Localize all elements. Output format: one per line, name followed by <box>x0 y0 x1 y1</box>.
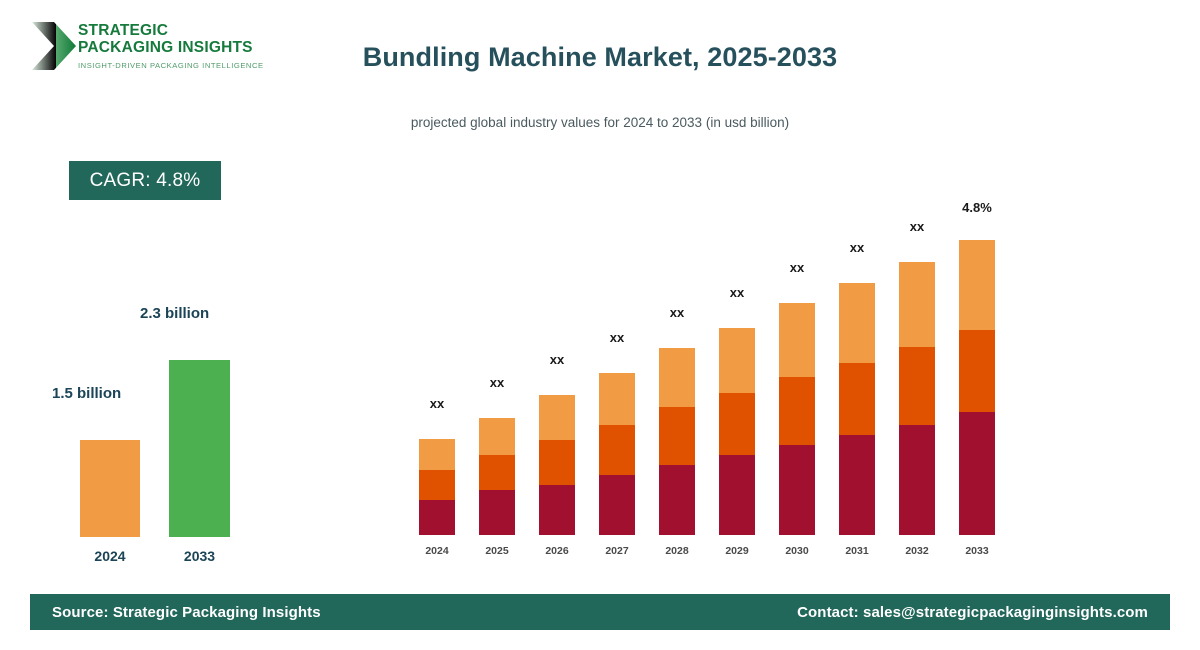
segment-bottom-band <box>539 485 575 535</box>
segment-top-band <box>779 303 815 377</box>
comparison-bar-value: 1.5 billion <box>52 385 121 402</box>
segment-bottom-band <box>719 455 755 535</box>
segment-bottom-band <box>959 412 995 535</box>
stacked-bar-group: xx2028 <box>659 200 695 560</box>
segment-top-band <box>719 328 755 393</box>
stacked-bar-value-label: xx <box>467 375 527 390</box>
stacked-bar-value-label: xx <box>887 219 947 234</box>
stacked-bar-year-label: 2031 <box>827 545 887 557</box>
segment-mid-band <box>959 330 995 412</box>
footer-bar: Source: Strategic Packaging Insights Con… <box>30 594 1170 630</box>
segment-mid-band <box>779 377 815 445</box>
stacked-bar-group: xx2031 <box>839 200 875 560</box>
comparison-bar-year: 2033 <box>155 548 245 564</box>
stacked-bar-year-label: 2027 <box>587 545 647 557</box>
segment-mid-band <box>599 425 635 475</box>
comparison-chart: 1.5 billion20242.3 billion2033 <box>40 300 290 570</box>
stacked-bar-value-label: xx <box>407 396 467 411</box>
stacked-bar <box>899 262 935 535</box>
page-title: Bundling Machine Market, 2025-2033 <box>300 42 900 73</box>
stacked-bar-year-label: 2030 <box>767 545 827 557</box>
comparison-bar-year: 2024 <box>65 548 155 564</box>
brand-tagline: INSIGHT-DRIVEN PACKAGING INTELLIGENCE <box>78 60 268 72</box>
brand-name-line1: STRATEGIC <box>78 22 268 39</box>
footer-source: Source: Strategic Packaging Insights <box>52 604 321 621</box>
footer-contact[interactable]: Contact: sales@strategicpackaginginsight… <box>797 604 1148 621</box>
chevron-arrow-icon <box>30 20 78 72</box>
stacked-bar <box>839 283 875 535</box>
stacked-bar-group: xx2032 <box>899 200 935 560</box>
stacked-bar-group: xx2024 <box>419 200 455 560</box>
stacked-bar-group: xx2026 <box>539 200 575 560</box>
stacked-bar-value-label: xx <box>767 260 827 275</box>
stacked-bar-value-label: xx <box>587 330 647 345</box>
projection-stacked-bar-chart: xx2024xx2025xx2026xx2027xx2028xx2029xx20… <box>400 200 1020 560</box>
segment-bottom-band <box>779 445 815 535</box>
stacked-bar <box>719 328 755 535</box>
segment-mid-band <box>899 347 935 425</box>
segment-top-band <box>599 373 635 425</box>
segment-top-band <box>959 240 995 330</box>
stacked-bar-year-label: 2029 <box>707 545 767 557</box>
stacked-bar-group: xx2030 <box>779 200 815 560</box>
stacked-bar-year-label: 2024 <box>407 545 467 557</box>
comparison-bar <box>169 360 230 537</box>
segment-bottom-band <box>419 500 455 535</box>
cagr-badge: CAGR: 4.8% <box>69 161 221 200</box>
brand-name: STRATEGIC PACKAGING INSIGHTS INSIGHT-DRI… <box>78 22 268 72</box>
stacked-bar-group: xx2029 <box>719 200 755 560</box>
segment-top-band <box>839 283 875 363</box>
segment-bottom-band <box>839 435 875 535</box>
segment-top-band <box>899 262 935 347</box>
segment-mid-band <box>479 455 515 490</box>
comparison-bar-value: 2.3 billion <box>140 305 209 322</box>
segment-top-band <box>659 348 695 407</box>
stacked-bar-year-label: 2033 <box>947 545 1007 557</box>
segment-bottom-band <box>899 425 935 535</box>
stacked-bar <box>539 395 575 535</box>
stacked-bar-group: xx2025 <box>479 200 515 560</box>
segment-mid-band <box>419 470 455 500</box>
stacked-bar-year-label: 2025 <box>467 545 527 557</box>
stacked-bar <box>959 240 995 535</box>
stacked-bar <box>779 303 815 535</box>
stacked-bar-value-label: xx <box>647 305 707 320</box>
stacked-bar <box>419 439 455 535</box>
stacked-bar-year-label: 2032 <box>887 545 947 557</box>
stacked-bar-group: xx2027 <box>599 200 635 560</box>
stacked-bar-value-label: 4.8% <box>947 200 1007 215</box>
segment-mid-band <box>719 393 755 455</box>
brand-name-line2: PACKAGING INSIGHTS <box>78 39 268 56</box>
stacked-bar <box>599 373 635 535</box>
stacked-bar <box>659 348 695 535</box>
segment-top-band <box>539 395 575 440</box>
comparison-bar <box>80 440 140 537</box>
segment-mid-band <box>659 407 695 465</box>
segment-bottom-band <box>599 475 635 535</box>
stacked-bar-group: 4.8%2033 <box>959 200 995 560</box>
segment-bottom-band <box>659 465 695 535</box>
stacked-bar-value-label: xx <box>707 285 767 300</box>
stacked-bar-value-label: xx <box>527 352 587 367</box>
segment-top-band <box>419 439 455 470</box>
stacked-bar-value-label: xx <box>827 240 887 255</box>
stacked-bar-year-label: 2028 <box>647 545 707 557</box>
segment-top-band <box>479 418 515 455</box>
segment-bottom-band <box>479 490 515 535</box>
segment-mid-band <box>539 440 575 485</box>
stacked-bar <box>479 418 515 535</box>
page-subtitle: projected global industry values for 202… <box>300 115 900 130</box>
segment-mid-band <box>839 363 875 435</box>
stacked-bar-year-label: 2026 <box>527 545 587 557</box>
brand-logo: STRATEGIC PACKAGING INSIGHTS INSIGHT-DRI… <box>30 14 265 76</box>
